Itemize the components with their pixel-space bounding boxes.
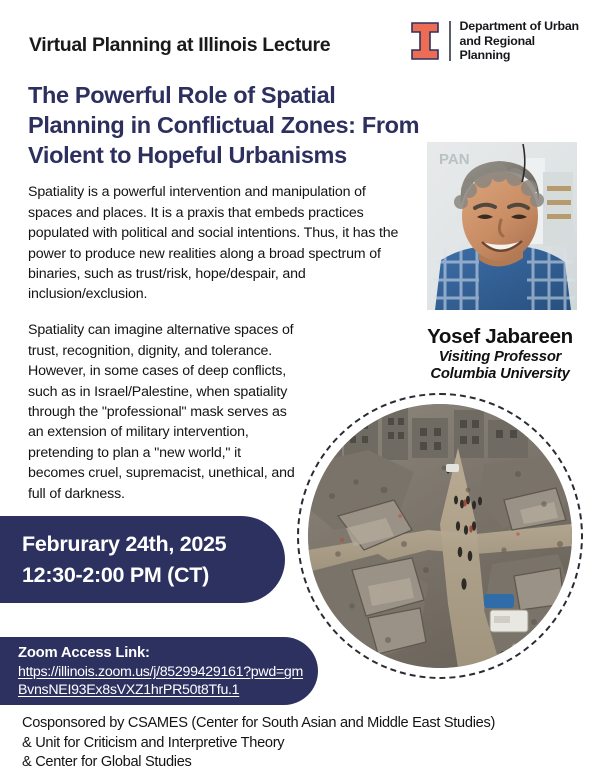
speaker-organization: Columbia University bbox=[400, 366, 600, 383]
cosponsor-line-2: & Unit for Criticism and Interpretive Th… bbox=[22, 734, 592, 754]
page-title: The Powerful Role of Spatial Planning in… bbox=[28, 80, 428, 171]
event-date: Februrary 24th, 2025 bbox=[22, 529, 285, 560]
zoom-meeting-link[interactable]: https://illinois.zoom.us/j/85299429161?p… bbox=[18, 663, 308, 699]
speaker-role: Visiting Professor bbox=[400, 349, 600, 366]
zoom-access-label: Zoom Access Link: bbox=[18, 644, 318, 663]
svg-text:PAN: PAN bbox=[439, 151, 470, 168]
zoom-access-banner: Zoom Access Link: https://illinois.zoom.… bbox=[0, 637, 318, 705]
conflict-zone-image-frame bbox=[297, 393, 583, 679]
abstract-paragraph-2: Spatiality can imagine alternative space… bbox=[28, 320, 298, 504]
dashed-circle-border bbox=[297, 393, 583, 679]
speaker-portrait-photo: PAN bbox=[427, 142, 577, 310]
logo-divider bbox=[449, 21, 451, 61]
department-logo: Department of Urban and Regional Plannin… bbox=[410, 18, 588, 64]
logo-department-text: Department of Urban and Regional Plannin… bbox=[460, 19, 589, 63]
cosponsor-line-1: Cosponsored by CSAMES (Center for South … bbox=[22, 714, 592, 734]
abstract-paragraph-1: Spatiality is a powerful intervention an… bbox=[28, 182, 400, 305]
cosponsor-footer: Cosponsored by CSAMES (Center for South … bbox=[22, 714, 592, 773]
cosponsor-line-3: & Center for Global Studies bbox=[22, 753, 592, 773]
illinois-block-i-icon bbox=[410, 21, 440, 61]
portrait-illustration: PAN bbox=[427, 142, 577, 310]
lecture-poster: Department of Urban and Regional Plannin… bbox=[0, 0, 600, 777]
event-time: 12:30-2:00 PM (CT) bbox=[22, 560, 285, 591]
speaker-info: Yosef Jabareen Visiting Professor Columb… bbox=[400, 325, 600, 384]
event-datetime-banner: Februrary 24th, 2025 12:30-2:00 PM (CT) bbox=[0, 516, 285, 603]
series-kicker: Virtual Planning at Illinois Lecture bbox=[29, 34, 330, 57]
speaker-name: Yosef Jabareen bbox=[400, 325, 600, 349]
